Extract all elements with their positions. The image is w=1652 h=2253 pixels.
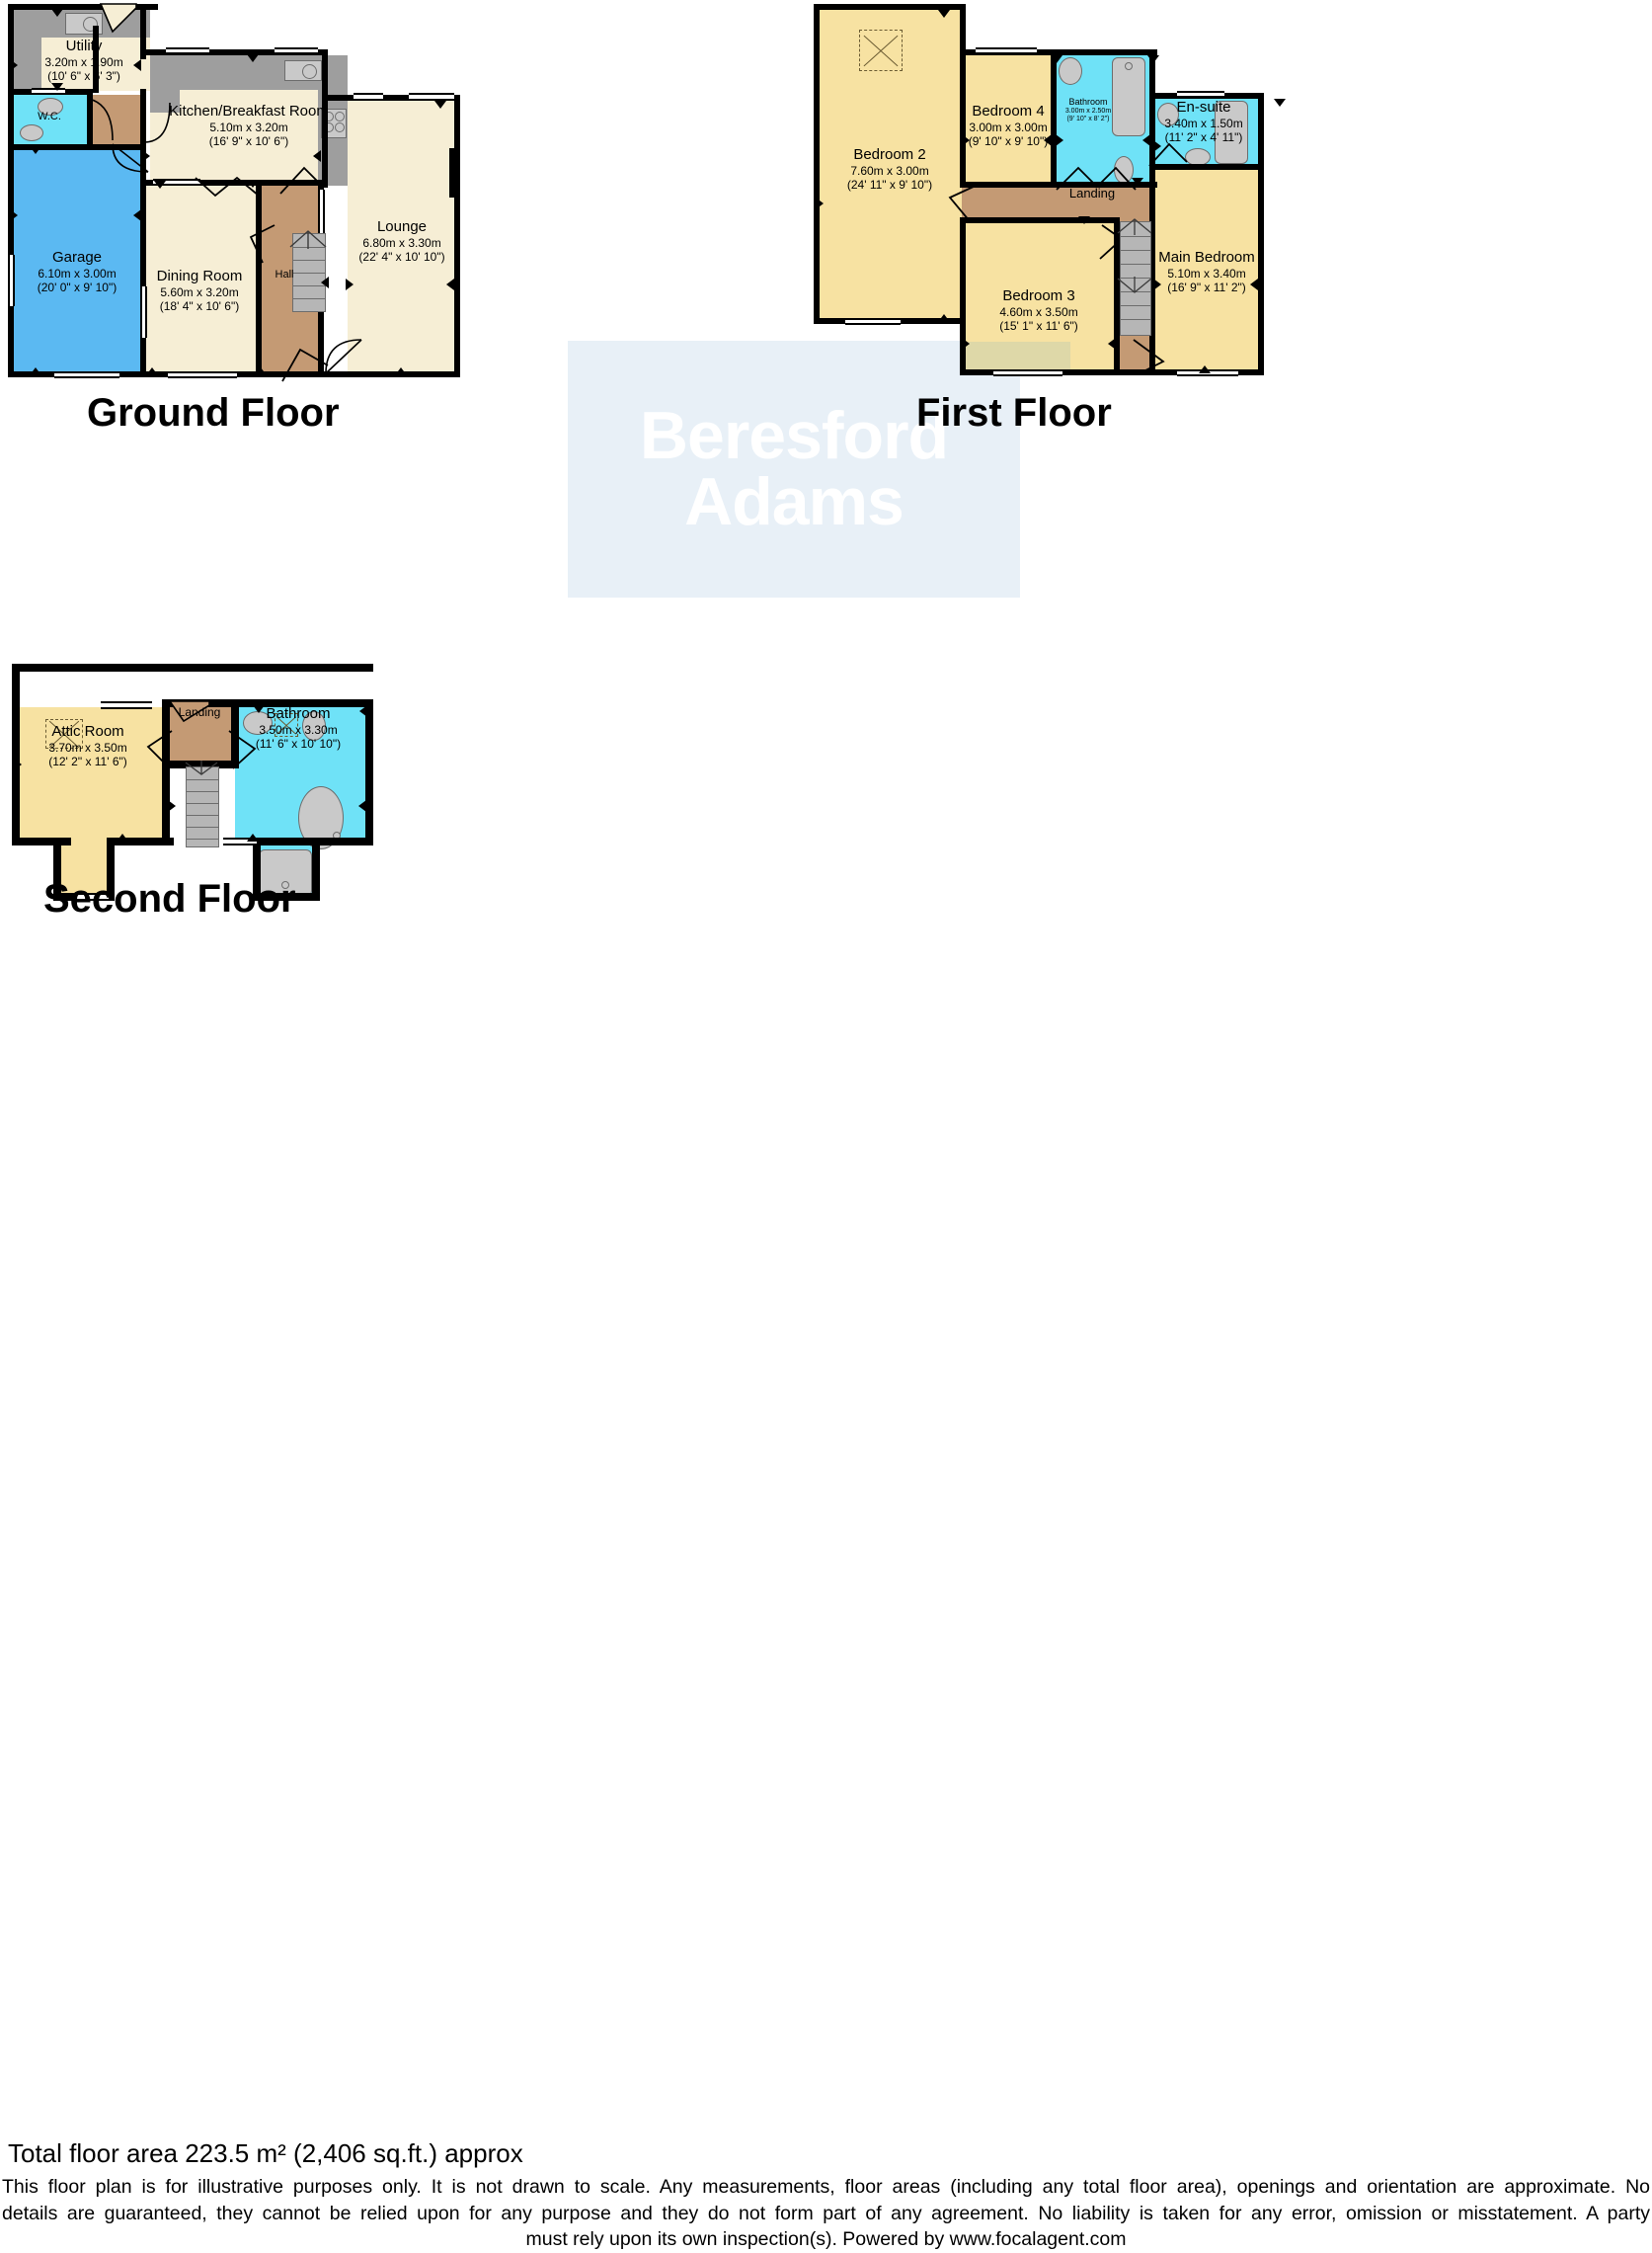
door-lounge-hall bbox=[322, 334, 365, 377]
wall-s-top bbox=[12, 664, 373, 672]
ground-floor-plan: Utility 3.20m x 1.90m (10' 6" x 6' 3") W… bbox=[0, 0, 494, 395]
room-fill-attic bbox=[16, 707, 166, 845]
disclaimer-line-3: must rely upon its own inspection(s). Po… bbox=[0, 2226, 1652, 2253]
ground-floor-title: Ground Floor bbox=[87, 391, 340, 436]
window-kitchen-top-1 bbox=[166, 47, 209, 54]
arrow-main-left bbox=[1153, 279, 1161, 290]
door-bathroom-second bbox=[223, 729, 261, 772]
bath-tap-first bbox=[1125, 62, 1133, 70]
wc-toilet bbox=[20, 124, 43, 141]
arrow-garage-bottom bbox=[30, 367, 41, 375]
arrow-lounge-top bbox=[434, 101, 446, 109]
arrow-attic-left bbox=[14, 759, 22, 770]
arrow-bed4-left bbox=[962, 134, 970, 146]
arrow-hall-bottom bbox=[255, 367, 267, 375]
room-fill-bedroom4 bbox=[962, 53, 1055, 186]
room-fill-dining bbox=[143, 186, 260, 375]
door-hall-kitchen bbox=[278, 164, 326, 198]
ensuite-shower bbox=[1215, 101, 1248, 164]
arrow-bath-bottom bbox=[1132, 178, 1143, 186]
arrow-utility-left bbox=[10, 59, 18, 71]
wall-f-bed3-left bbox=[960, 217, 966, 375]
window-bedroom4-top bbox=[976, 47, 1037, 54]
arrow-bed2-left bbox=[816, 198, 824, 209]
stair-down-arrow-first bbox=[1116, 275, 1153, 294]
arrow-utility-right bbox=[133, 59, 141, 71]
window-ensuite-top bbox=[1177, 91, 1224, 98]
window-garage-left bbox=[8, 255, 15, 306]
room-fill-garage bbox=[12, 150, 143, 375]
bathroom-hatch-icon bbox=[275, 713, 298, 737]
wall-g-lounge-bay bbox=[449, 148, 460, 198]
arrow-bath2-top bbox=[253, 705, 265, 713]
arrow-attic-bottom bbox=[117, 834, 128, 842]
window-attic-top bbox=[101, 701, 152, 709]
disclaimer-text: This floor plan is for illustrative purp… bbox=[0, 2174, 1652, 2253]
arrow-dining-top2 bbox=[154, 181, 166, 189]
arrow-bed3-top bbox=[1078, 216, 1090, 224]
first-floor-plan: Bedroom 2 7.60m x 3.00m (24' 11" x 9' 10… bbox=[800, 0, 1294, 395]
wall-g-lounge-right bbox=[454, 95, 460, 377]
arrow-lounge-right bbox=[446, 279, 454, 290]
arrow-kitchen-top bbox=[247, 54, 259, 62]
stair-direction-arrow-ground bbox=[288, 227, 328, 249]
arrow-garage-top bbox=[30, 146, 41, 154]
kitchen-sink-bowl bbox=[302, 64, 317, 79]
room-fill-mainbedroom bbox=[1153, 168, 1260, 369]
arrow-ensuite-left bbox=[1153, 140, 1161, 152]
arrow-stair-left bbox=[168, 800, 176, 812]
door-landing-second bbox=[166, 699, 215, 725]
window-bedroom3-bottom bbox=[993, 369, 1062, 376]
arrow-lounge-left bbox=[346, 279, 354, 290]
window-garage-right bbox=[140, 286, 147, 338]
wall-f-left-bed2 bbox=[814, 4, 820, 324]
window-bedroom2-bottom bbox=[845, 318, 901, 325]
window-lounge-top-1 bbox=[354, 93, 383, 101]
floorplan-canvas: Beresford Adams bbox=[0, 0, 1652, 1155]
second-floor-plan: Attic Room 3.70m x 3.50m (12' 2" x 11' 6… bbox=[0, 612, 415, 869]
ensuite-toilet bbox=[1157, 103, 1179, 126]
arrow-main-right bbox=[1250, 279, 1258, 290]
second-floor-title: Second Floor bbox=[43, 877, 296, 922]
arrow-bed3-left bbox=[962, 338, 970, 350]
arrow-bed2-top bbox=[938, 10, 950, 18]
arrow-garage-left bbox=[10, 209, 18, 221]
arrow-bath-right bbox=[1142, 134, 1150, 146]
hob-ring-4 bbox=[335, 122, 345, 132]
arrow-bath-left bbox=[1056, 134, 1063, 146]
watermark-line-2: Adams bbox=[684, 469, 904, 535]
wall-s-left bbox=[12, 664, 20, 845]
stair-up-arrow-first bbox=[1116, 215, 1153, 235]
arrow-lounge-bottom bbox=[395, 367, 407, 375]
arrow-utility-top bbox=[51, 9, 63, 17]
arrow-bed4-top bbox=[1051, 55, 1062, 63]
arrow-hall-right bbox=[321, 277, 329, 288]
wall-f-bed2-right bbox=[960, 4, 966, 188]
door-kitchen-vestibule bbox=[138, 99, 176, 146]
wc-basin bbox=[38, 98, 63, 116]
hob-ring-2 bbox=[335, 112, 345, 121]
door-mainbedroom bbox=[1130, 336, 1169, 375]
wall-s-bottom-left bbox=[12, 838, 71, 845]
attic-loft-hatch-icon bbox=[45, 719, 83, 749]
door-hall-dining bbox=[247, 223, 280, 267]
arrow-dining-bottom bbox=[146, 367, 158, 375]
arrow-bed3-right bbox=[1108, 338, 1116, 350]
disclaimer-line-2: details are guaranteed, they cannot be r… bbox=[0, 2201, 1652, 2227]
arrow-bath2-right bbox=[358, 800, 366, 812]
arrow-bath2-bottom bbox=[247, 834, 259, 842]
door-wc bbox=[87, 97, 118, 144]
first-floor-title: First Floor bbox=[916, 391, 1112, 436]
door-utility-top bbox=[99, 2, 138, 36]
disclaimer-line-1: This floor plan is for illustrative purp… bbox=[0, 2174, 1652, 2201]
window-dining-bottom bbox=[168, 371, 237, 378]
arrow-kitchen-right bbox=[313, 150, 321, 162]
wall-s-bathbay-right bbox=[312, 838, 320, 899]
bathroom-toilet-second bbox=[302, 711, 326, 741]
watermark-line-1: Beresford bbox=[640, 403, 948, 469]
bedroom2-loft-hatch-icon bbox=[859, 30, 903, 71]
arrow-bath-top bbox=[1147, 55, 1159, 63]
stair-down-arrow-second bbox=[184, 761, 219, 778]
arrow-dining-top bbox=[247, 180, 259, 188]
window-kitchen-top-2 bbox=[275, 47, 318, 54]
window-lounge-top-2 bbox=[409, 93, 454, 101]
window-garage-bottom bbox=[54, 371, 119, 378]
arrow-main-bottom bbox=[1199, 365, 1211, 373]
door-bedroom2 bbox=[944, 184, 980, 227]
wall-g-utility-inner bbox=[93, 26, 99, 93]
arrow-kitchen-left bbox=[142, 150, 150, 162]
second-staircase bbox=[186, 766, 219, 847]
arrow-bed2-bottom bbox=[938, 314, 950, 322]
door-attic bbox=[142, 729, 178, 770]
arrow-utility-bottom bbox=[51, 83, 63, 91]
arrow-bath2-topright bbox=[359, 705, 367, 717]
arrow-ensuite-top bbox=[1274, 99, 1286, 107]
wall-f-right bbox=[1258, 93, 1264, 375]
door-bedroom4 bbox=[1055, 166, 1098, 194]
wall-s-right bbox=[365, 699, 373, 845]
total-floor-area: Total floor area 223.5 m² (2,406 sq.ft.)… bbox=[8, 2138, 523, 2169]
arrow-garage-right bbox=[133, 209, 141, 221]
arrow-bed4-right bbox=[1044, 134, 1052, 146]
